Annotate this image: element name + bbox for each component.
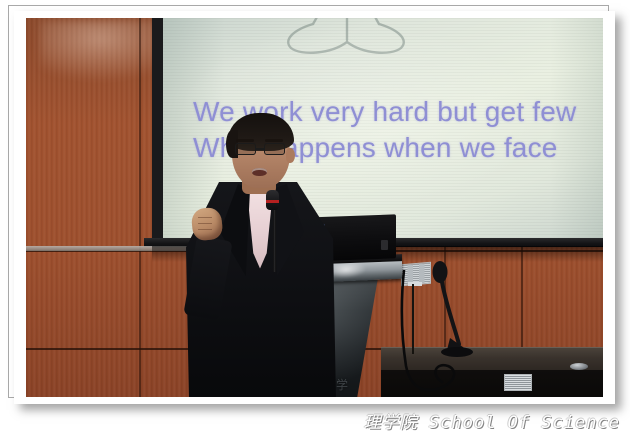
laptop-port — [381, 240, 388, 250]
eyeglass-bridge — [256, 148, 264, 150]
eyeglasses — [234, 143, 290, 155]
eyebrow-left — [236, 139, 254, 142]
microphone-red-band — [266, 200, 279, 203]
microphone-stand — [273, 206, 276, 272]
fist-knuckle-line — [198, 223, 212, 224]
presenter — [176, 110, 346, 397]
wall-seam-vertical — [139, 18, 141, 397]
eyebrow-right — [265, 139, 283, 142]
screenshot-root: We work very hard but get few What happe… — [0, 0, 630, 437]
speaker-grille — [504, 374, 532, 391]
photo-caption: 理学院 School Of Science — [364, 408, 620, 433]
photo-frame: We work very hard but get few What happe… — [14, 11, 615, 404]
caption-english: School Of Science — [429, 413, 620, 433]
fist-knuckle-line — [198, 229, 212, 230]
mouth — [252, 168, 267, 176]
caption-chinese: 理学院 — [364, 413, 418, 433]
desk-cable — [396, 270, 486, 397]
eyeglass-lens-right — [264, 143, 285, 155]
desk-knob — [570, 363, 588, 370]
fist-knuckle-line — [198, 217, 212, 218]
eyeglass-lens-left — [235, 143, 256, 155]
photograph: We work very hard but get few What happe… — [26, 18, 603, 397]
